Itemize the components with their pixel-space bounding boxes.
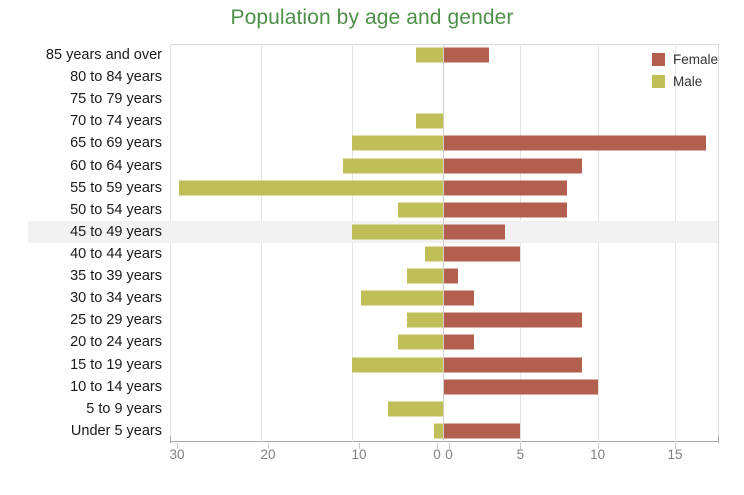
bar-male[interactable] — [361, 291, 443, 306]
category-label: 50 to 54 years — [0, 199, 162, 221]
bar-male[interactable] — [352, 357, 443, 372]
bar-male[interactable] — [179, 180, 443, 195]
chart-title: Population by age and gender — [0, 6, 744, 30]
bar-female[interactable] — [443, 357, 582, 372]
bar-female[interactable] — [443, 158, 582, 173]
category-label: 25 to 29 years — [0, 309, 162, 331]
x-axis-labels: 3020100051015 — [0, 443, 744, 473]
category-label: 40 to 44 years — [0, 243, 162, 265]
category-label: 5 to 9 years — [0, 398, 162, 420]
category-label: 85 years and over — [0, 44, 162, 66]
legend-label: Male — [673, 74, 702, 89]
legend-swatch-icon — [652, 75, 665, 88]
chart-legend: FemaleMale — [652, 50, 718, 94]
category-label: 45 to 49 years — [0, 221, 162, 243]
bar-male[interactable] — [352, 136, 443, 151]
chart-container: Population by age and gender 85 years an… — [0, 0, 744, 495]
chart-row[interactable]: 80 to 84 years — [0, 66, 744, 88]
chart-row[interactable]: 70 to 74 years — [0, 110, 744, 132]
bar-male[interactable] — [398, 335, 444, 350]
bar-female[interactable] — [443, 423, 520, 438]
x-tick-female-5: 5 — [517, 447, 525, 462]
bar-female[interactable] — [443, 335, 474, 350]
bar-female[interactable] — [443, 313, 582, 328]
legend-swatch-icon — [652, 53, 665, 66]
bar-male[interactable] — [416, 114, 443, 129]
chart-row[interactable]: 20 to 24 years — [0, 331, 744, 353]
category-label: 15 to 19 years — [0, 354, 162, 376]
bar-female[interactable] — [443, 224, 505, 239]
chart-row[interactable]: 60 to 64 years — [0, 155, 744, 177]
bar-male[interactable] — [398, 202, 444, 217]
legend-item[interactable]: Female — [652, 50, 718, 69]
bar-male[interactable] — [352, 224, 443, 239]
chart-row[interactable]: 55 to 59 years — [0, 177, 744, 199]
chart-row[interactable]: 85 years and over — [0, 44, 744, 66]
chart-rows: 85 years and over80 to 84 years75 to 79 … — [0, 44, 744, 442]
x-tick-male-20: 20 — [260, 447, 275, 462]
x-tick-male-10: 10 — [351, 447, 366, 462]
bar-female[interactable] — [443, 291, 474, 306]
category-label: 55 to 59 years — [0, 177, 162, 199]
chart-row[interactable]: 30 to 34 years — [0, 287, 744, 309]
chart-row[interactable]: 45 to 49 years — [0, 221, 744, 243]
category-label: 10 to 14 years — [0, 376, 162, 398]
bar-female[interactable] — [443, 202, 567, 217]
category-label: 60 to 64 years — [0, 155, 162, 177]
bar-male[interactable] — [388, 401, 443, 416]
bar-male[interactable] — [434, 423, 443, 438]
category-label: 30 to 34 years — [0, 287, 162, 309]
x-tick-female-0: 0 — [445, 447, 453, 462]
chart-row[interactable]: 65 to 69 years — [0, 132, 744, 154]
chart-row[interactable]: 25 to 29 years — [0, 309, 744, 331]
bar-female[interactable] — [443, 247, 520, 262]
bar-male[interactable] — [407, 313, 443, 328]
bar-female[interactable] — [443, 48, 489, 63]
bar-female[interactable] — [443, 180, 567, 195]
chart-row[interactable]: 10 to 14 years — [0, 376, 744, 398]
bar-female[interactable] — [443, 379, 598, 394]
bar-female[interactable] — [443, 269, 458, 284]
x-tick-female-15: 15 — [667, 447, 682, 462]
chart-row[interactable]: 40 to 44 years — [0, 243, 744, 265]
category-label: 20 to 24 years — [0, 331, 162, 353]
category-label: 75 to 79 years — [0, 88, 162, 110]
gridline-zero — [443, 44, 444, 442]
chart-row[interactable]: 50 to 54 years — [0, 199, 744, 221]
category-label: Under 5 years — [0, 420, 162, 442]
bar-male[interactable] — [407, 269, 443, 284]
axis-cap-left — [170, 436, 171, 443]
legend-item[interactable]: Male — [652, 72, 718, 91]
category-label: 35 to 39 years — [0, 265, 162, 287]
x-tick-female-10: 10 — [590, 447, 605, 462]
axis-cap-right — [718, 436, 719, 443]
chart-row[interactable]: Under 5 years — [0, 420, 744, 442]
category-label: 65 to 69 years — [0, 132, 162, 154]
bar-male[interactable] — [416, 48, 443, 63]
bar-male[interactable] — [425, 247, 443, 262]
chart-row[interactable]: 35 to 39 years — [0, 265, 744, 287]
chart-row[interactable]: 75 to 79 years — [0, 88, 744, 110]
bar-male[interactable] — [343, 158, 443, 173]
chart-row[interactable]: 5 to 9 years — [0, 398, 744, 420]
legend-label: Female — [673, 52, 718, 67]
category-label: 70 to 74 years — [0, 110, 162, 132]
chart-row[interactable]: 15 to 19 years — [0, 354, 744, 376]
category-label: 80 to 84 years — [0, 66, 162, 88]
bar-female[interactable] — [443, 136, 706, 151]
x-tick-male-0: 0 — [433, 447, 441, 462]
x-tick-male-30: 30 — [169, 447, 184, 462]
